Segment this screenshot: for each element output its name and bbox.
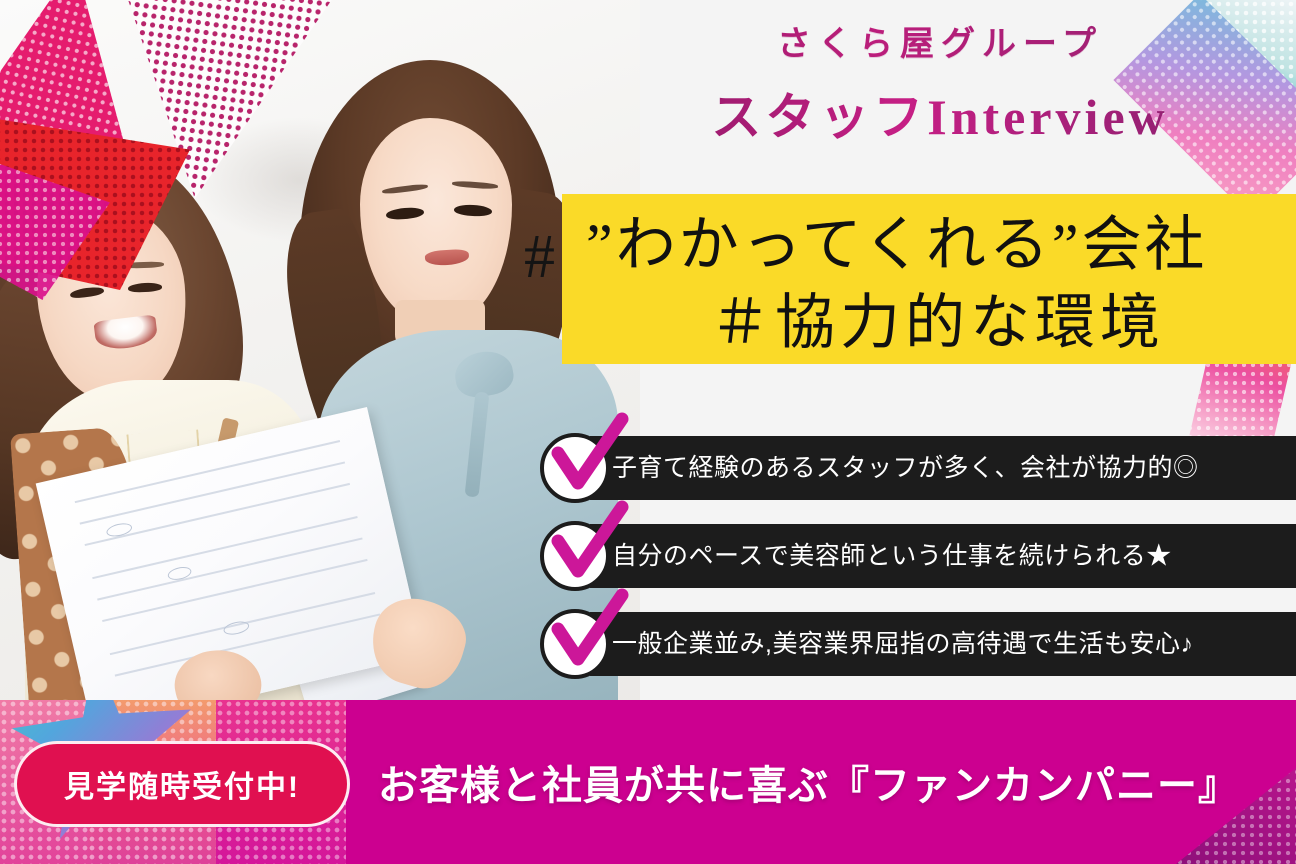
banner-root: さくら屋グループ スタッフInterview # ”わかってくれる”会社 ＃協力… xyxy=(0,0,1296,864)
person-right-face xyxy=(360,118,512,324)
check-icon xyxy=(540,521,610,591)
list-item: 自分のペースで美容師という仕事を続けられる★ xyxy=(540,524,1280,588)
hashtag-line-1: ”わかってくれる”会社 xyxy=(586,196,1296,283)
benefit-text: 一般企業並み,美容業界屈指の高待遇で生活も安心♪ xyxy=(612,612,1193,676)
footer-bar: 見学随時受付中! お客様と社員が共に喜ぶ『ファンカンパニー』 xyxy=(0,700,1296,864)
tour-badge[interactable]: 見学随時受付中! xyxy=(14,741,350,827)
list-item: 子育て経験のあるスタッフが多く、会社が協力的◎ xyxy=(540,436,1280,500)
footer-tagline: お客様と社員が共に喜ぶ『ファンカンパニー』 xyxy=(378,700,1239,864)
benefits-list: 子育て経験のあるスタッフが多く、会社が協力的◎ 自分のペースで美容師という仕事を… xyxy=(540,436,1280,700)
tour-badge-label: 見学随時受付中! xyxy=(64,762,300,806)
hashtag-line-2: ＃協力的な環境 xyxy=(710,274,1296,361)
hashtag-mark: # xyxy=(524,222,555,293)
check-icon xyxy=(540,609,610,679)
check-icon xyxy=(540,433,610,503)
list-item: 一般企業並み,美容業界屈指の高待遇で生活も安心♪ xyxy=(540,612,1280,676)
benefit-text: 子育て経験のあるスタッフが多く、会社が協力的◎ xyxy=(612,436,1199,500)
benefit-text: 自分のペースで美容師という仕事を続けられる★ xyxy=(612,524,1172,588)
